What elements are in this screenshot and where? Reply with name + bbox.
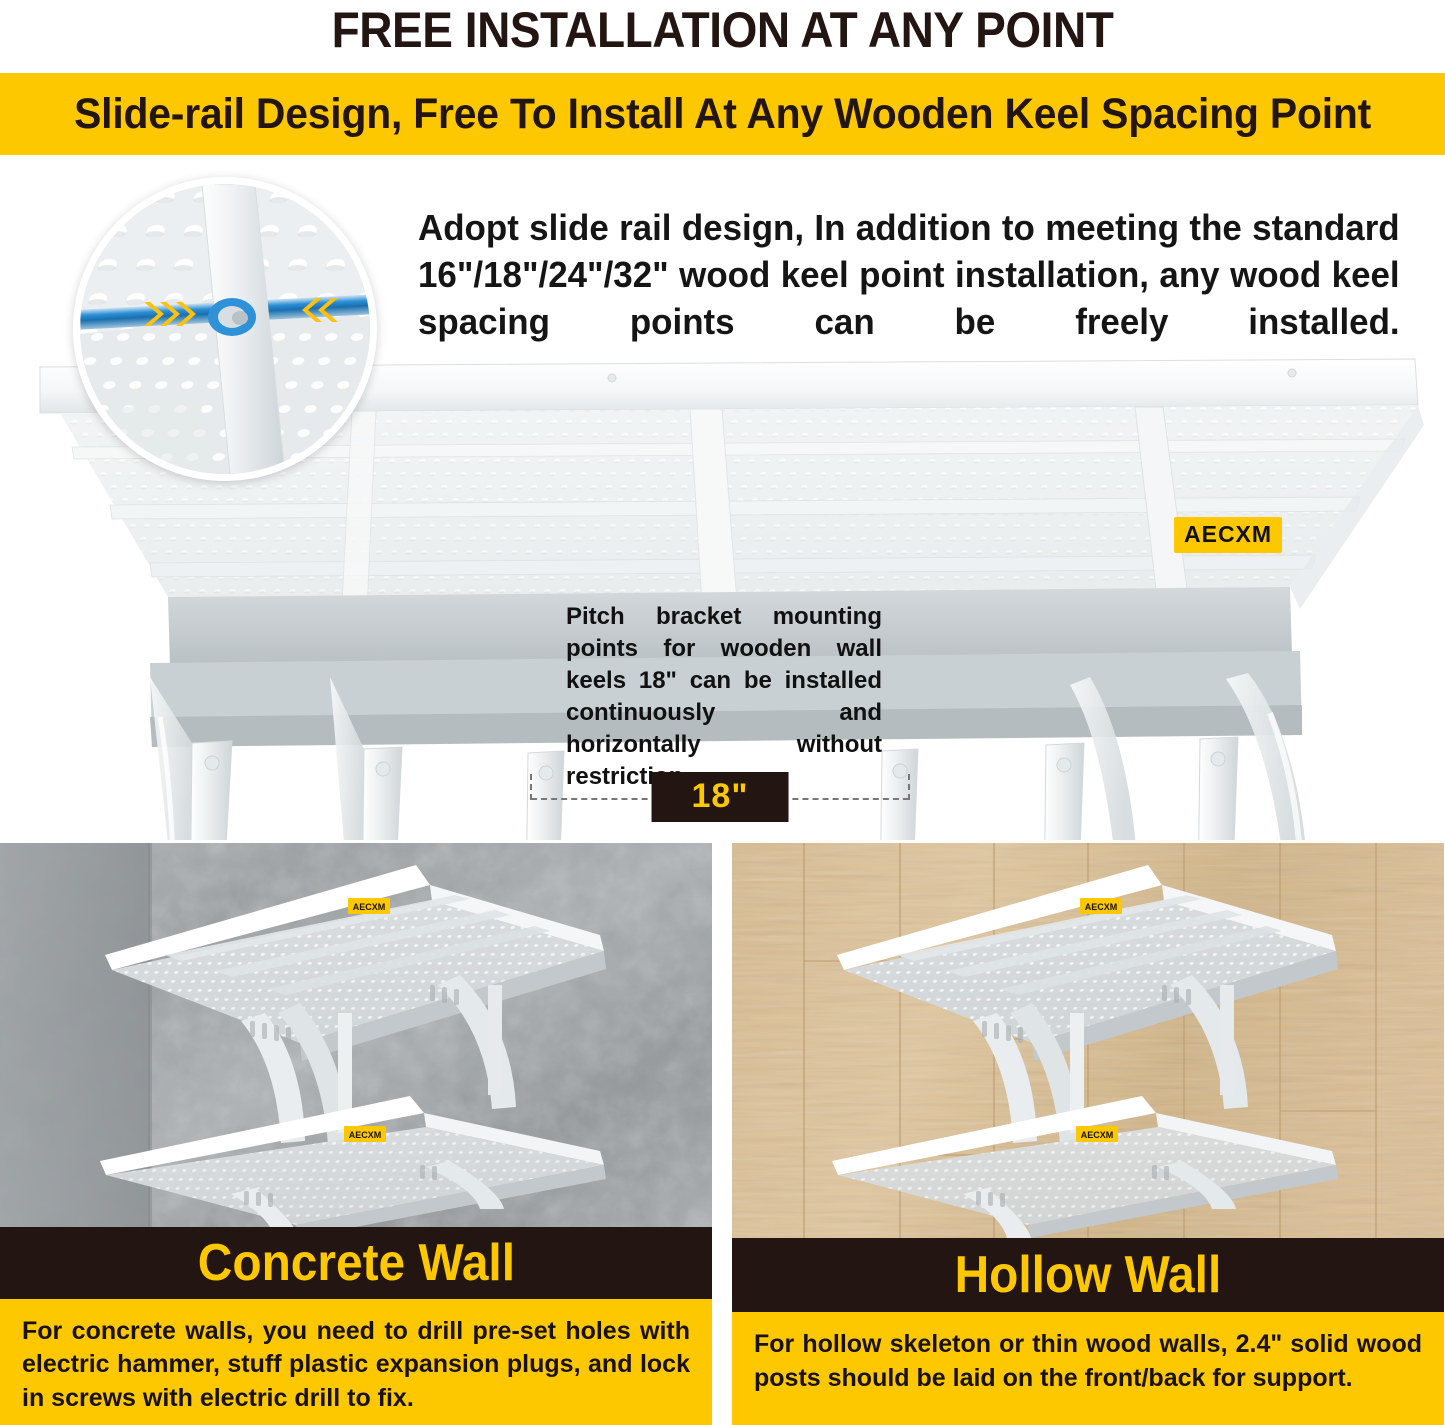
hero-section: AECXM xyxy=(0,157,1445,840)
subtitle-text: Slide-rail Design, Free To Install At An… xyxy=(74,90,1371,139)
panel-title-hollow: Hollow Wall xyxy=(955,1245,1222,1305)
svg-text:AECXM: AECXM xyxy=(349,1130,382,1140)
pitch-note-text: Pitch bracket mounting points for wooden… xyxy=(566,601,882,792)
brand-badge-hero: AECXM xyxy=(1174,517,1282,553)
panel-caption-box-hollow: For hollow skeleton or thin wood walls, … xyxy=(732,1312,1444,1425)
panel-caption-concrete: For concrete walls, you need to drill pr… xyxy=(22,1315,690,1416)
wall-type-panels: AECXM xyxy=(0,843,1445,1425)
panel-caption-hollow: For hollow skeleton or thin wood walls, … xyxy=(754,1328,1422,1395)
panel-concrete-wall: AECXM xyxy=(0,843,712,1425)
hollow-wall-scene: AECXM xyxy=(732,843,1444,1238)
product-infographic: FREE INSTALLATION AT ANY POINT Slide-rai… xyxy=(0,0,1445,1425)
svg-text:AECXM: AECXM xyxy=(1081,1130,1114,1140)
subtitle-banner: Slide-rail Design, Free To Install At An… xyxy=(0,73,1445,155)
panel-title-concrete: Concrete Wall xyxy=(197,1233,514,1293)
panel-title-band-concrete: Concrete Wall xyxy=(0,1227,712,1299)
hero-description: Adopt slide rail design, In addition to … xyxy=(418,205,1400,345)
dimension-tick-left xyxy=(530,774,532,800)
brand-badge-label: AECXM xyxy=(1184,521,1272,547)
svg-text:AECXM: AECXM xyxy=(353,902,386,912)
dimension-indicator: 18" xyxy=(530,772,910,824)
svg-text:AECXM: AECXM xyxy=(1085,902,1118,912)
page-title: FREE INSTALLATION AT ANY POINT xyxy=(58,2,1387,60)
dimension-badge: 18" xyxy=(652,772,789,822)
panel-hollow-wall: AECXM xyxy=(732,843,1444,1425)
dimension-tick-right xyxy=(908,774,910,800)
panel-caption-box-concrete: For concrete walls, you need to drill pr… xyxy=(0,1299,712,1425)
slide-rail-closeup xyxy=(73,177,377,481)
concrete-wall-scene: AECXM xyxy=(0,843,712,1227)
panel-title-band-hollow: Hollow Wall xyxy=(732,1238,1444,1312)
